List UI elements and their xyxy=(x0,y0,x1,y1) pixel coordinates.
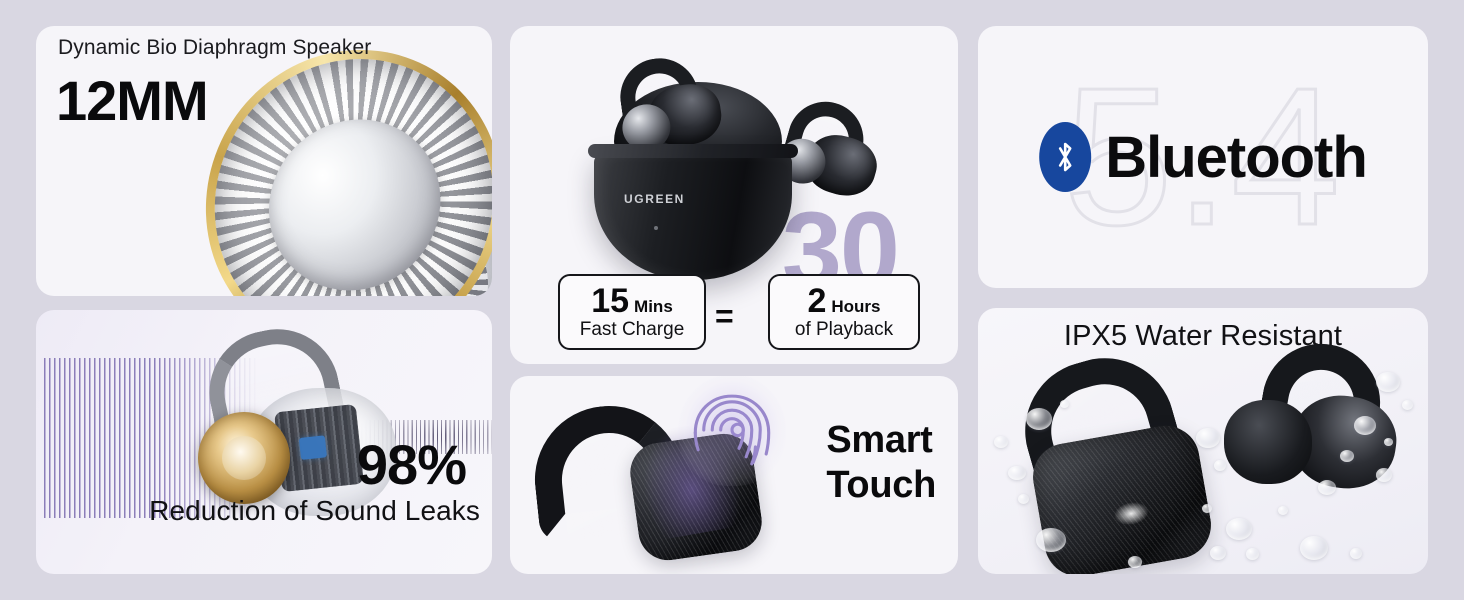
water-droplet xyxy=(1402,400,1413,410)
speaker-heading: Dynamic Bio Diaphragm Speaker xyxy=(58,36,371,60)
water-droplet xyxy=(1376,372,1400,392)
bluetooth-icon xyxy=(1039,122,1091,192)
card-dynamic-speaker: Dynamic Bio Diaphragm Speaker 12MM xyxy=(36,26,492,296)
water-droplet xyxy=(1026,408,1052,430)
smart-touch-line2: Touch xyxy=(826,463,936,508)
ugreen-brand-logo: UGREEN xyxy=(624,192,685,206)
earbud-gold-driver xyxy=(198,412,290,504)
card-water-resistant: IPX5 Water Resistant xyxy=(978,308,1428,574)
card-smart-touch: Smart Touch xyxy=(510,376,958,574)
water-droplet xyxy=(1196,428,1220,448)
bluetooth-wordmark: Bluetooth xyxy=(1105,124,1367,191)
card-bluetooth-version: 5.4 Bluetooth xyxy=(978,26,1428,288)
water-droplet xyxy=(1202,504,1212,513)
charging-case-image: UGREEN xyxy=(594,152,792,280)
water-droplet xyxy=(1008,466,1026,480)
water-droplet xyxy=(1354,416,1376,435)
water-droplet xyxy=(1214,460,1226,471)
water-droplet xyxy=(1128,556,1142,568)
product-feature-board: Dynamic Bio Diaphragm Speaker 12MM 98% R… xyxy=(0,0,1464,600)
equals-symbol: = xyxy=(715,298,734,335)
playback-number: 2 xyxy=(807,284,826,318)
speaker-size-value: 12MM xyxy=(56,68,208,133)
fast-charge-caption: Fast Charge xyxy=(580,319,685,341)
fast-charge-badge: 15 Mins Fast Charge xyxy=(558,274,706,350)
fast-charge-unit: Mins xyxy=(634,297,673,317)
water-droplet xyxy=(1350,548,1362,559)
fast-charge-value-row: 15 Mins xyxy=(591,284,673,318)
playback-badge: 2 Hours of Playback xyxy=(768,274,920,350)
water-droplet xyxy=(1060,400,1069,408)
sound-leak-percent: 98% xyxy=(357,432,466,497)
charging-case-led xyxy=(654,226,658,230)
water-droplet xyxy=(1384,438,1393,446)
water-earbud-right-image xyxy=(1218,344,1408,514)
water-droplet xyxy=(1036,528,1066,552)
fast-charge-number: 15 xyxy=(591,284,629,318)
charging-case-lid xyxy=(588,144,798,158)
water-droplet xyxy=(994,436,1008,448)
smart-touch-label: Smart Touch xyxy=(826,418,936,508)
water-droplet xyxy=(1246,548,1259,560)
water-earbud-left-image xyxy=(1002,360,1232,560)
earbud-tip xyxy=(1224,400,1312,484)
water-droplet xyxy=(1210,546,1226,560)
water-droplet xyxy=(1318,480,1336,495)
card-battery-fast-charge: 30 UGREEN 15 Mins Fast Charge = xyxy=(510,26,958,364)
fingerprint-halo xyxy=(678,376,786,486)
water-droplet xyxy=(1300,536,1328,560)
speaker-driver-image xyxy=(176,26,492,296)
water-droplet xyxy=(1340,450,1354,462)
sound-leak-caption: Reduction of Sound Leaks xyxy=(149,495,480,527)
smart-touch-line1: Smart xyxy=(826,418,936,463)
water-droplet xyxy=(1018,494,1029,504)
water-droplet xyxy=(1226,518,1252,540)
fingerprint-icon xyxy=(686,382,778,478)
playback-value-row: 2 Hours xyxy=(807,284,880,318)
bluetooth-logo: Bluetooth xyxy=(1039,122,1367,192)
card-sound-leak-reduction: 98% Reduction of Sound Leaks xyxy=(36,310,492,574)
water-droplet xyxy=(1278,506,1288,515)
playback-caption: of Playback xyxy=(795,319,893,341)
playback-unit: Hours xyxy=(831,297,880,317)
water-droplet xyxy=(1376,468,1392,482)
